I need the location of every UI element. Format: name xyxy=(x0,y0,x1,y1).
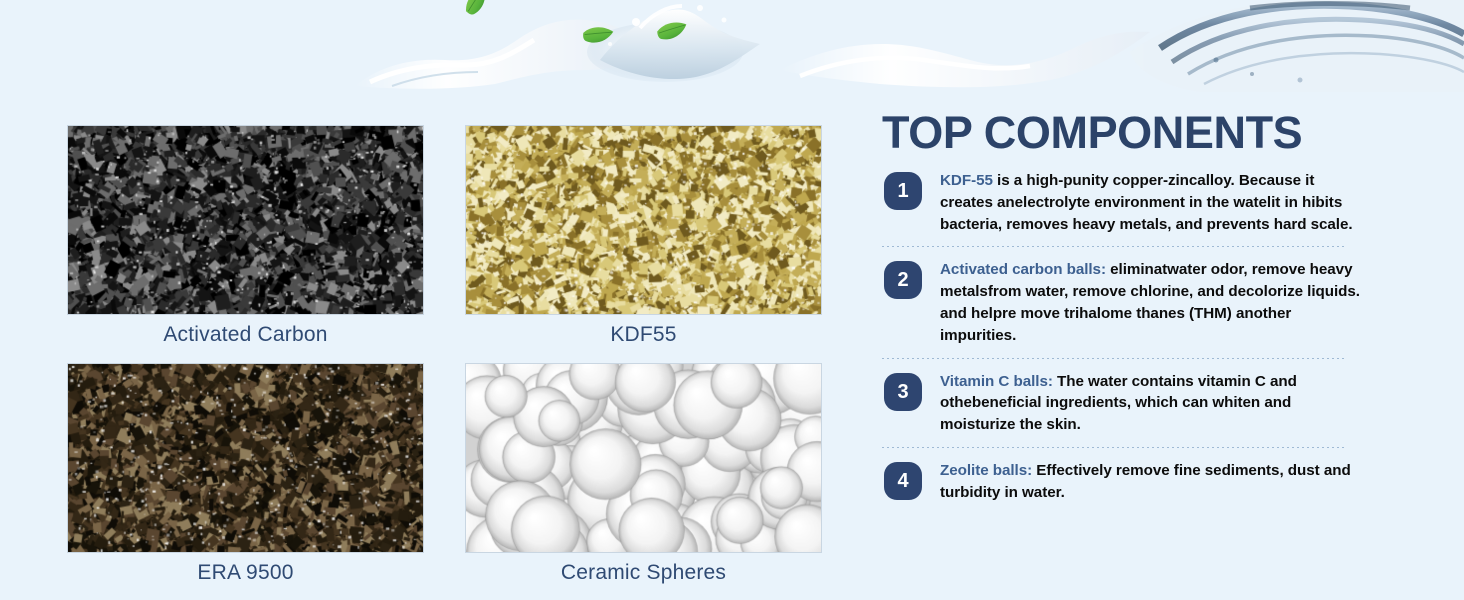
component-image-gallery: Activated Carbon KDF55 ERA 9500 Ceramic … xyxy=(0,92,860,600)
item-description: is a high-punity copper-zincalloy. Becau… xyxy=(940,172,1353,233)
water-splash-graphic xyxy=(0,0,1464,92)
caption-kdf55: KDF55 xyxy=(465,323,822,347)
component-item: 3Vitamin C balls: The water contains vit… xyxy=(882,371,1366,436)
tile-ceramic-spheres[interactable] xyxy=(465,363,822,553)
tile-activated-carbon[interactable] xyxy=(67,125,424,315)
component-item: 4Zeolite balls: Effectively remove fine … xyxy=(882,460,1366,504)
item-number-badge: 1 xyxy=(884,172,922,210)
item-divider xyxy=(882,358,1344,359)
component-item: 2Activated carbon balls: eliminatwater o… xyxy=(882,259,1366,346)
tile-era-9500[interactable] xyxy=(67,363,424,553)
components-list: 1KDF-55 is a high-punity copper-zincallo… xyxy=(882,170,1366,504)
image-activated-carbon xyxy=(67,125,424,315)
image-ceramic-spheres xyxy=(465,363,822,553)
item-number-badge: 2 xyxy=(884,261,922,299)
item-number-badge: 4 xyxy=(884,462,922,500)
item-lead: Vitamin C balls: xyxy=(940,373,1053,390)
caption-activated-carbon: Activated Carbon xyxy=(67,323,424,347)
page-title: TOP COMPONENTS xyxy=(882,110,1302,155)
item-divider xyxy=(882,447,1344,448)
item-number-badge: 3 xyxy=(884,373,922,411)
item-text: Activated carbon balls: eliminatwater od… xyxy=(940,259,1366,346)
item-lead: Activated carbon balls: xyxy=(940,261,1106,278)
top-components-panel: TOP COMPONENTS 1KDF-55 is a high-punity … xyxy=(862,92,1464,600)
item-divider xyxy=(882,246,1344,247)
water-splash-banner xyxy=(0,0,1464,92)
item-text: KDF-55 is a high-punity copper-zincalloy… xyxy=(940,170,1366,235)
component-item: 1KDF-55 is a high-punity copper-zincallo… xyxy=(882,170,1366,235)
caption-era-9500: ERA 9500 xyxy=(67,561,424,585)
image-era-9500 xyxy=(67,363,424,553)
item-lead: KDF-55 xyxy=(940,172,993,189)
caption-ceramic-spheres: Ceramic Spheres xyxy=(465,561,822,585)
item-text: Zeolite balls: Effectively remove fine s… xyxy=(940,460,1366,504)
tile-kdf55[interactable] xyxy=(465,125,822,315)
item-lead: Zeolite balls: xyxy=(940,462,1032,479)
item-text: Vitamin C balls: The water contains vita… xyxy=(940,371,1366,436)
image-kdf55 xyxy=(465,125,822,315)
